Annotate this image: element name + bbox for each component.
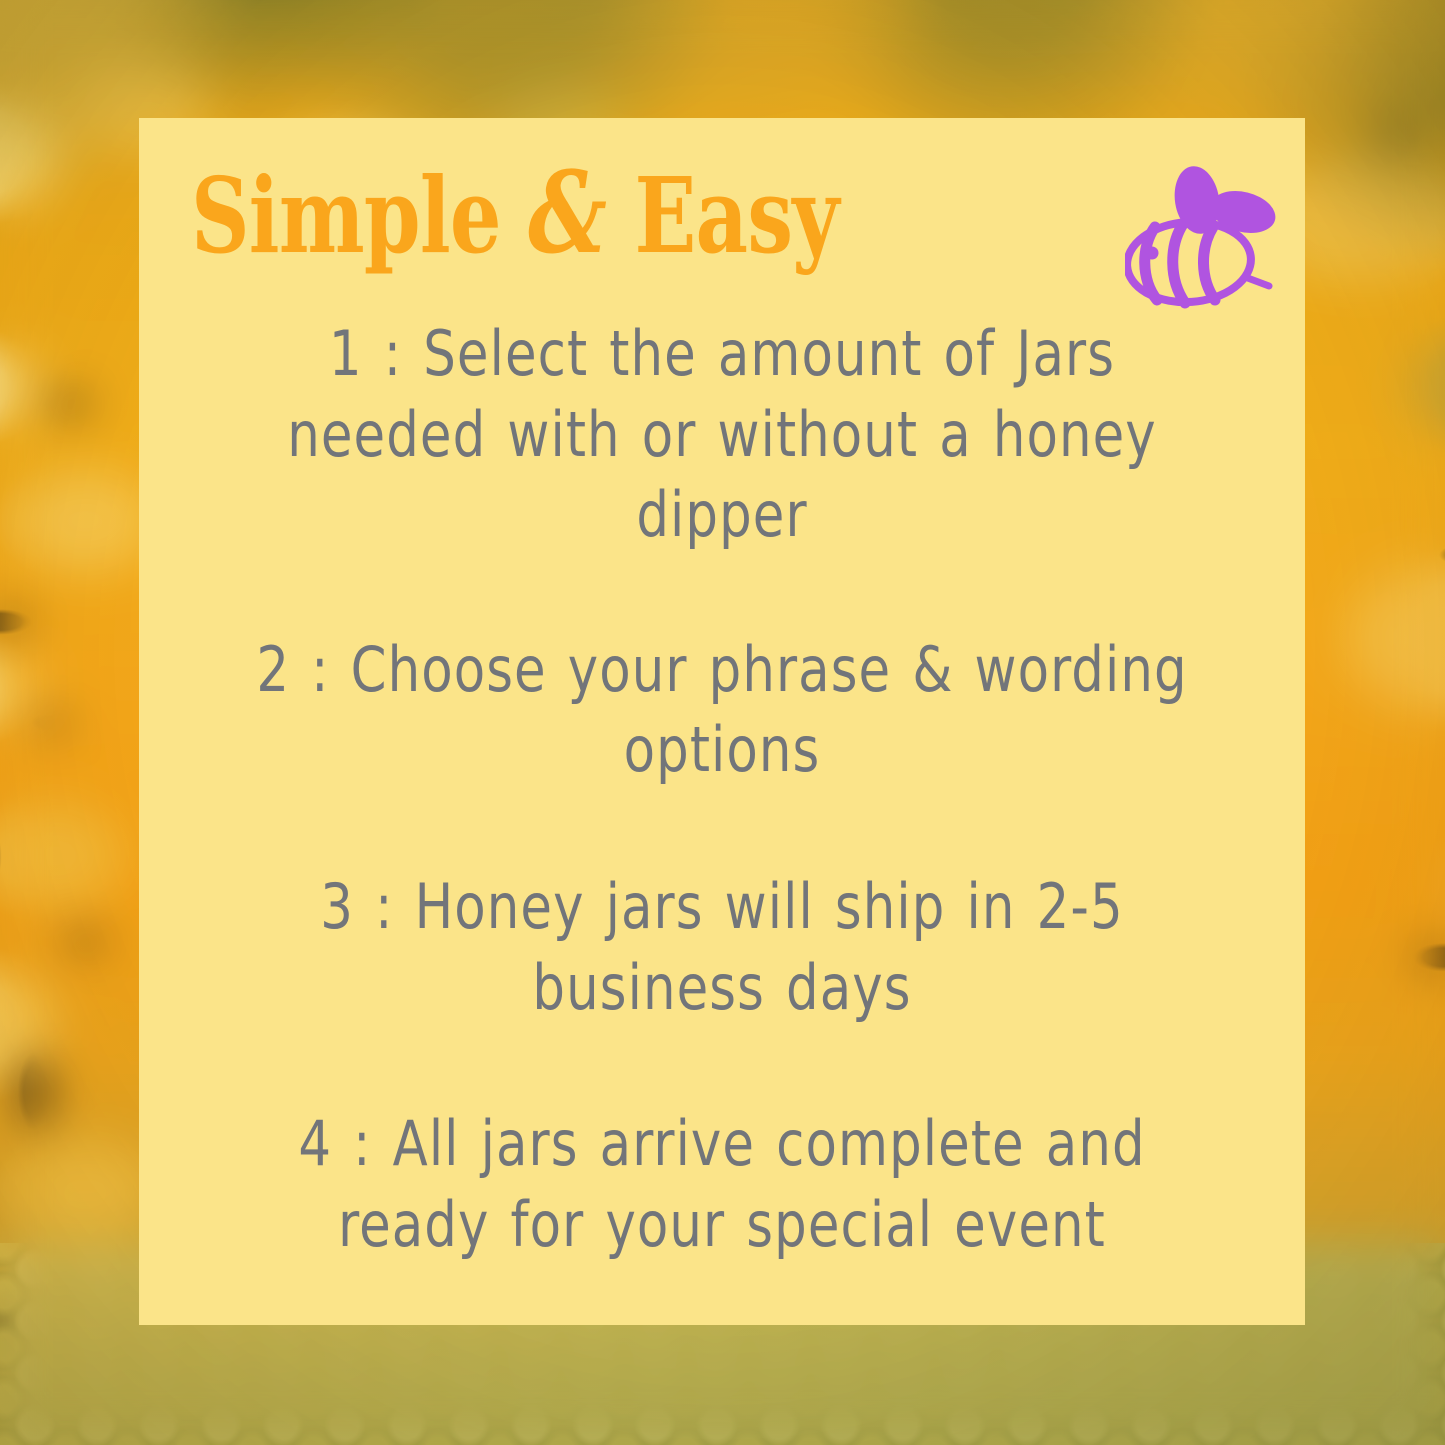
list-item: 2 : Choose your phrase & wording options: [243, 630, 1202, 791]
card-header: Simple & Easy: [139, 152, 1305, 292]
page-title: Simple & Easy: [191, 158, 839, 270]
page-title-part-after-amp: Easy: [607, 154, 839, 277]
list-item: 3 : Honey jars will ship in 2-5 business…: [243, 867, 1202, 1028]
ampersand-glyph: &: [528, 148, 607, 279]
page-title-part-before-amp: Simple: [191, 154, 528, 277]
list-item: 1 : Select the amount of Jars needed wit…: [243, 314, 1202, 556]
instructions-card: Simple & Easy: [139, 118, 1305, 1325]
bee-icon: [1125, 164, 1287, 324]
steps-list: 1 : Select the amount of Jars needed wit…: [201, 314, 1243, 1263]
promo-graphic: Simple & Easy: [0, 0, 1445, 1445]
list-item: 4 : All jars arrive complete and ready f…: [243, 1104, 1202, 1265]
